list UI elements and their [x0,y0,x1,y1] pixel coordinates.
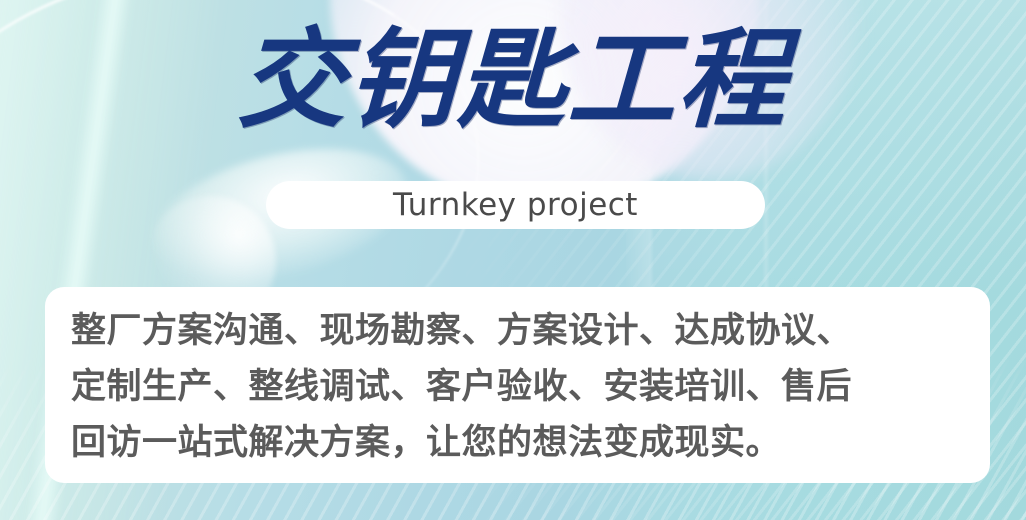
description-line-1: 整厂方案沟通、现场勘察、方案设计、达成协议、 [71,303,964,359]
description-line-2: 定制生产、整线调试、客户验收、安装培训、售后 [71,359,964,415]
page-title: 交钥匙工程 [0,18,1026,144]
description-line-3: 回访一站式解决方案，让您的想法变成现实。 [71,415,964,471]
description-card: 整厂方案沟通、现场勘察、方案设计、达成协议、 定制生产、整线调试、客户验收、安装… [45,287,990,483]
subtitle-pill: Turnkey project [266,181,765,229]
subtitle-text: Turnkey project [393,188,638,222]
turnkey-project-banner: 交钥匙工程 Turnkey project 整厂方案沟通、现场勘察、方案设计、达… [0,0,1026,520]
